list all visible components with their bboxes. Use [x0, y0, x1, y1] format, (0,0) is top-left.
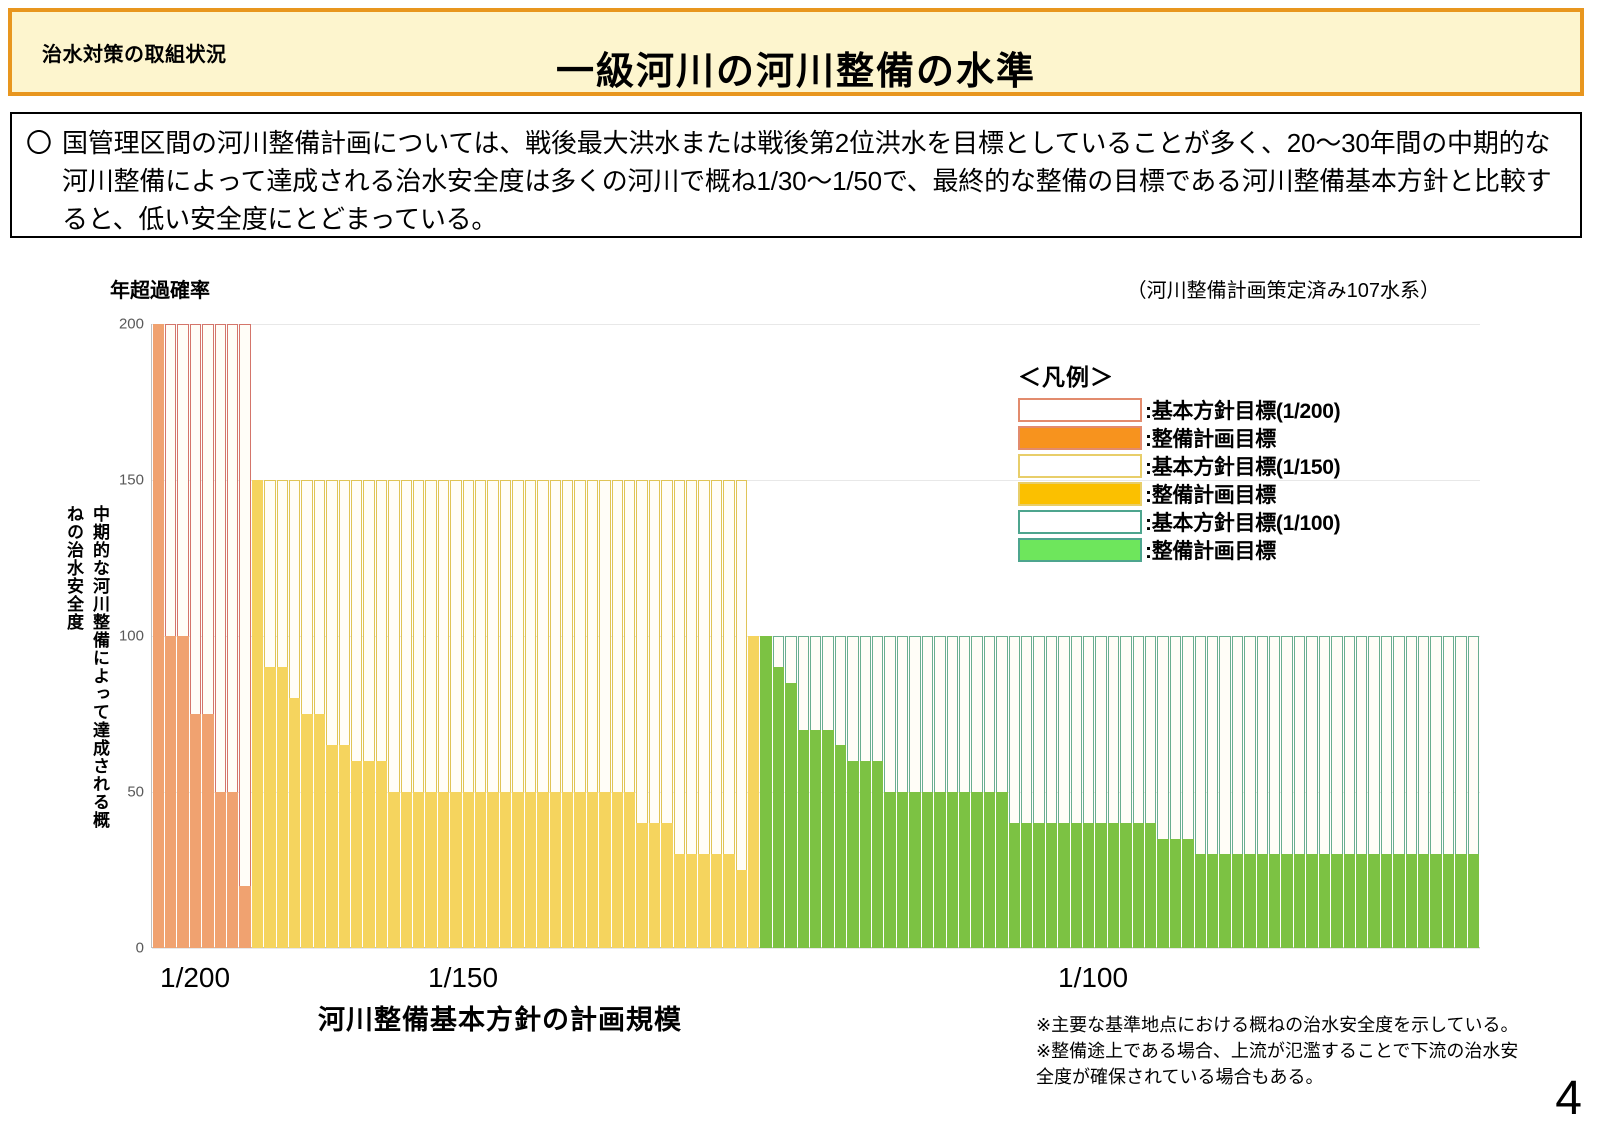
bar-column	[326, 324, 337, 948]
bar-fill-improvement-plan	[748, 636, 759, 948]
bar-fill-improvement-plan	[884, 792, 895, 948]
bar-fill-improvement-plan	[1157, 839, 1168, 948]
bar-column	[686, 324, 697, 948]
page-title: 一級河川の河川整備の水準	[12, 40, 1580, 95]
statement-text: 国管理区間の河川整備計画については、戦後最大洪水または戦後第2位洪水を目標として…	[62, 124, 1566, 238]
bar-column	[922, 324, 933, 948]
bar-column	[450, 324, 461, 948]
bar-column	[1468, 324, 1479, 948]
bar-fill-improvement-plan	[1294, 854, 1305, 948]
legend-row: :整備計画目標	[1000, 424, 1400, 452]
bar-fill-improvement-plan	[1244, 854, 1255, 948]
bar-column	[264, 324, 275, 948]
bar-fill-improvement-plan	[1393, 854, 1404, 948]
legend-row: :基本方針目標(1/200)	[1000, 396, 1400, 424]
bar-fill-improvement-plan	[760, 636, 771, 948]
bar-fill-improvement-plan	[1257, 854, 1268, 948]
bar-column	[227, 324, 238, 948]
bar-fill-improvement-plan	[649, 823, 660, 948]
bar-fill-improvement-plan	[698, 854, 709, 948]
y-tick-label: 200	[119, 316, 144, 333]
bar-column	[463, 324, 474, 948]
chart-legend: ＜凡例＞ :基本方針目標(1/200):整備計画目標:基本方針目標(1/150)…	[1000, 358, 1400, 564]
bar-fill-improvement-plan	[438, 792, 449, 948]
bar-fill-improvement-plan	[537, 792, 548, 948]
bar-column	[413, 324, 424, 948]
bar-column	[153, 324, 164, 948]
bar-column	[1418, 324, 1429, 948]
bar-fill-improvement-plan	[1133, 823, 1144, 948]
bar-fill-improvement-plan	[1219, 854, 1230, 948]
gridline	[152, 948, 1480, 949]
bar-fill-improvement-plan	[1058, 823, 1069, 948]
bar-column	[723, 324, 734, 948]
bar-fill-improvement-plan	[153, 324, 164, 948]
bar-column	[661, 324, 672, 948]
legend-row: :基本方針目標(1/100)	[1000, 508, 1400, 536]
bar-fill-improvement-plan	[934, 792, 945, 948]
bar-fill-improvement-plan	[252, 480, 263, 948]
bar-fill-improvement-plan	[947, 792, 958, 948]
bar-fill-improvement-plan	[1120, 823, 1131, 948]
bar-fill-improvement-plan	[376, 761, 387, 948]
bar-column	[884, 324, 895, 948]
bar-fill-improvement-plan	[822, 730, 833, 948]
bar-fill-improvement-plan	[1430, 854, 1441, 948]
bar-fill-improvement-plan	[339, 745, 350, 948]
bar-fill-improvement-plan	[215, 792, 226, 948]
bar-fill-improvement-plan	[463, 792, 474, 948]
bar-fill-improvement-plan	[525, 792, 536, 948]
bar-fill-improvement-plan	[1232, 854, 1243, 948]
bar-fill-improvement-plan	[1170, 839, 1181, 948]
bar-fill-improvement-plan	[1406, 854, 1417, 948]
bar-fill-improvement-plan	[1356, 854, 1367, 948]
bar-column	[289, 324, 300, 948]
bar-fill-improvement-plan	[1443, 854, 1454, 948]
footnote-2: ※整備途上である場合、上流が氾濫することで下流の治水安全度が確保されている場合も…	[1036, 1038, 1536, 1090]
bar-fill-improvement-plan	[388, 792, 399, 948]
bar-fill-improvement-plan	[301, 714, 312, 948]
bar-fill-improvement-plan	[798, 730, 809, 948]
bar-column	[612, 324, 623, 948]
bar-fill-improvement-plan	[1344, 854, 1355, 948]
legend-row: :整備計画目標	[1000, 536, 1400, 564]
bar-fill-improvement-plan	[450, 792, 461, 948]
bar-fill-improvement-plan	[264, 667, 275, 948]
bar-column	[835, 324, 846, 948]
x-tick-label: 1/100	[1058, 962, 1128, 994]
bar-column	[165, 324, 176, 948]
x-tick-label: 1/150	[428, 962, 498, 994]
bar-fill-improvement-plan	[165, 636, 176, 948]
bar-fill-improvement-plan	[835, 745, 846, 948]
bar-fill-improvement-plan	[810, 730, 821, 948]
bar-fill-improvement-plan	[636, 823, 647, 948]
statement-box: 〇 国管理区間の河川整備計画については、戦後最大洪水または戦後第2位洪水を目標と…	[10, 112, 1582, 238]
bar-column	[822, 324, 833, 948]
bar-column	[574, 324, 585, 948]
bar-column	[388, 324, 399, 948]
bar-fill-improvement-plan	[351, 761, 362, 948]
bar-fill-improvement-plan	[289, 698, 300, 948]
bar-column	[599, 324, 610, 948]
bar-fill-improvement-plan	[872, 761, 883, 948]
bar-fill-improvement-plan	[562, 792, 573, 948]
bar-fill-improvement-plan	[1046, 823, 1057, 948]
legend-label: :基本方針目標(1/150)	[1145, 451, 1340, 481]
bar-fill-improvement-plan	[1306, 854, 1317, 948]
bar-fill-improvement-plan	[1468, 854, 1479, 948]
bar-fill-improvement-plan	[1033, 823, 1044, 948]
bar-fill-improvement-plan	[599, 792, 610, 948]
bar-column	[1443, 324, 1454, 948]
bar-fill-improvement-plan	[1207, 854, 1218, 948]
bar-column	[773, 324, 784, 948]
bar-column	[1406, 324, 1417, 948]
bar-column	[487, 324, 498, 948]
bar-fill-improvement-plan	[314, 714, 325, 948]
bar-column	[984, 324, 995, 948]
bar-fill-improvement-plan	[227, 792, 238, 948]
bar-fill-improvement-plan	[984, 792, 995, 948]
legend-label: :整備計画目標	[1145, 479, 1276, 509]
bar-column	[525, 324, 536, 948]
bar-column	[947, 324, 958, 948]
y-tick-label: 0	[136, 940, 144, 957]
bar-fill-improvement-plan	[686, 854, 697, 948]
bar-column	[736, 324, 747, 948]
bar-column	[860, 324, 871, 948]
legend-swatch	[1018, 454, 1142, 478]
bar-fill-improvement-plan	[1021, 823, 1032, 948]
bar-fill-improvement-plan	[425, 792, 436, 948]
legend-swatch	[1018, 510, 1142, 534]
bar-fill-improvement-plan	[1071, 823, 1082, 948]
bar-fill-improvement-plan	[711, 854, 722, 948]
bar-fill-improvement-plan	[475, 792, 486, 948]
bar-column	[500, 324, 511, 948]
bar-column	[1455, 324, 1466, 948]
bar-column	[314, 324, 325, 948]
y-tick-label: 50	[127, 784, 144, 801]
legend-label: :整備計画目標	[1145, 535, 1276, 565]
bar-fill-improvement-plan	[177, 636, 188, 948]
bar-fill-improvement-plan	[1455, 854, 1466, 948]
bar-column	[810, 324, 821, 948]
bar-fill-improvement-plan	[785, 683, 796, 948]
bar-fill-improvement-plan	[487, 792, 498, 948]
bar-column	[897, 324, 908, 948]
bar-column	[475, 324, 486, 948]
bar-fill-improvement-plan	[1145, 823, 1156, 948]
bar-fill-improvement-plan	[1182, 839, 1193, 948]
y-tick-label: 150	[119, 472, 144, 489]
bar-fill-improvement-plan	[1095, 823, 1106, 948]
bar-fill-improvement-plan	[1418, 854, 1429, 948]
bar-column	[562, 324, 573, 948]
legend-swatch	[1018, 538, 1142, 562]
bar-column	[748, 324, 759, 948]
bar-column	[698, 324, 709, 948]
bar-fill-improvement-plan	[922, 792, 933, 948]
legend-label: :基本方針目標(1/200)	[1145, 395, 1340, 425]
bar-fill-improvement-plan	[239, 886, 250, 948]
bar-fill-improvement-plan	[512, 792, 523, 948]
bar-column	[537, 324, 548, 948]
bar-fill-improvement-plan	[1195, 854, 1206, 948]
bar-column	[339, 324, 350, 948]
bar-fill-improvement-plan	[661, 823, 672, 948]
bar-fill-improvement-plan	[1381, 854, 1392, 948]
bar-column	[872, 324, 883, 948]
bar-column	[550, 324, 561, 948]
bar-column	[785, 324, 796, 948]
bar-fill-improvement-plan	[971, 792, 982, 948]
bar-column	[301, 324, 312, 948]
bar-column	[636, 324, 647, 948]
y-axis-caption: 年超過確率	[110, 274, 210, 303]
bar-column	[798, 324, 809, 948]
bar-fill-improvement-plan	[1319, 854, 1330, 948]
bar-fill-improvement-plan	[1281, 854, 1292, 948]
bar-fill-improvement-plan	[1368, 854, 1379, 948]
bar-column	[909, 324, 920, 948]
bar-column	[711, 324, 722, 948]
bar-column	[512, 324, 523, 948]
bar-fill-improvement-plan	[897, 792, 908, 948]
legend-swatch	[1018, 482, 1142, 506]
bar-fill-improvement-plan	[860, 761, 871, 948]
bar-fill-improvement-plan	[847, 761, 858, 948]
page-number: 4	[1555, 1071, 1582, 1126]
bar-column	[277, 324, 288, 948]
bar-column	[959, 324, 970, 948]
chart-area: 年超過確率 （河川整備計画策定済み107水系） 中期的な河川整備によって達成され…	[0, 250, 1600, 1040]
x-axis-title: 河川整備基本方針の計画規模	[0, 998, 1000, 1037]
bar-column	[215, 324, 226, 948]
bar-column	[190, 324, 201, 948]
bar-fill-improvement-plan	[587, 792, 598, 948]
legend-swatch	[1018, 426, 1142, 450]
bar-column	[674, 324, 685, 948]
legend-row: :整備計画目標	[1000, 480, 1400, 508]
bar-fill-improvement-plan	[909, 792, 920, 948]
bar-column	[649, 324, 660, 948]
bullet-icon: 〇	[26, 124, 62, 238]
bar-fill-improvement-plan	[624, 792, 635, 948]
bar-column	[425, 324, 436, 948]
bar-fill-improvement-plan	[1269, 854, 1280, 948]
bar-column	[351, 324, 362, 948]
bar-column	[376, 324, 387, 948]
bar-fill-improvement-plan	[326, 745, 337, 948]
footnotes: ※主要な基準地点における概ねの治水安全度を示している。 ※整備途上である場合、上…	[1036, 1012, 1536, 1090]
bar-column	[401, 324, 412, 948]
x-tick-label: 1/200	[160, 962, 230, 994]
bar-fill-improvement-plan	[1083, 823, 1094, 948]
bar-column	[847, 324, 858, 948]
bar-fill-improvement-plan	[723, 854, 734, 948]
bar-fill-improvement-plan	[1009, 823, 1020, 948]
legend-swatch	[1018, 398, 1142, 422]
bar-fill-improvement-plan	[363, 761, 374, 948]
footnote-1: ※主要な基準地点における概ねの治水安全度を示している。	[1036, 1012, 1536, 1038]
bar-column	[934, 324, 945, 948]
bar-column	[971, 324, 982, 948]
legend-label: :整備計画目標	[1145, 423, 1276, 453]
bar-column	[202, 324, 213, 948]
bar-column	[363, 324, 374, 948]
y-tick-label: 100	[119, 628, 144, 645]
bar-column	[624, 324, 635, 948]
bar-fill-improvement-plan	[1331, 854, 1342, 948]
bar-fill-improvement-plan	[736, 870, 747, 948]
bar-column	[1430, 324, 1441, 948]
chart-top-note: （河川整備計画策定済み107水系）	[1127, 274, 1440, 303]
bar-column	[252, 324, 263, 948]
bar-column	[760, 324, 771, 948]
legend-label: :基本方針目標(1/100)	[1145, 507, 1340, 537]
bar-fill-improvement-plan	[959, 792, 970, 948]
bar-column	[239, 324, 250, 948]
legend-row: :基本方針目標(1/150)	[1000, 452, 1400, 480]
bar-fill-improvement-plan	[202, 714, 213, 948]
bar-fill-improvement-plan	[1108, 823, 1119, 948]
bar-fill-improvement-plan	[674, 854, 685, 948]
legend-title: ＜凡例＞	[1018, 358, 1400, 392]
bar-fill-improvement-plan	[574, 792, 585, 948]
bar-fill-improvement-plan	[773, 667, 784, 948]
bar-outline-basic-policy	[239, 324, 250, 948]
header-band: 治水対策の取組状況 一級河川の河川整備の水準	[8, 8, 1584, 96]
bar-fill-improvement-plan	[401, 792, 412, 948]
bar-fill-improvement-plan	[612, 792, 623, 948]
bar-fill-improvement-plan	[550, 792, 561, 948]
y-axis-title: 中期的な河川整備によって達成される概ねの治水安全度	[56, 505, 112, 845]
bar-column	[177, 324, 188, 948]
bar-column	[438, 324, 449, 948]
bar-fill-improvement-plan	[996, 792, 1007, 948]
bar-fill-improvement-plan	[500, 792, 511, 948]
bar-fill-improvement-plan	[413, 792, 424, 948]
bar-column	[587, 324, 598, 948]
bar-fill-improvement-plan	[277, 667, 288, 948]
bar-fill-improvement-plan	[190, 714, 201, 948]
